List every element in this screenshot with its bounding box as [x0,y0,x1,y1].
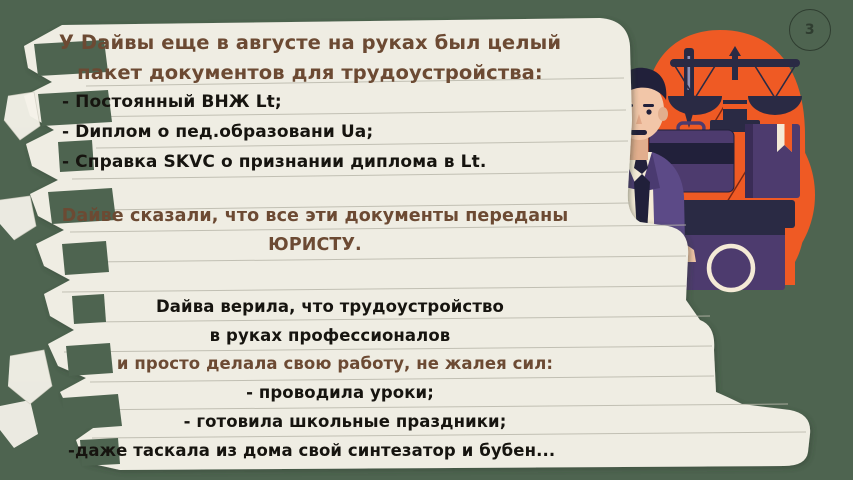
slide-canvas: 3 [0,0,853,480]
heading-line-1: У Dайвы еще в августе на руках был целый [0,33,620,53]
document-item-2: - Dиплом о пед.образовани Ua; [62,124,373,141]
belief-line-3: и просто делала свою работу, не жалея си… [0,356,670,373]
work-item-1: - проводила уроки; [0,385,680,402]
statement-line-1: Dайве сказали, что все эти документы пер… [0,208,630,226]
statement-line-2: ЮРИСТУ. [0,237,630,255]
work-item-2: - готовила школьные праздники; [0,414,690,431]
work-item-3: -даже таскала из дома свой синтезатор и … [68,443,555,460]
heading-line-2: пакет документов для трудоустройства: [0,63,620,83]
belief-line-1: Dайва верила, что трудоустройство [0,299,660,316]
document-item-3: - Справка SKVC о признании диплома в Lt. [62,154,486,171]
belief-line-2: в руках профессионалов [0,328,660,345]
document-item-1: - Постоянный ВНЖ Lt; [62,94,282,111]
slide-text-content: У Dайвы еще в августе на руках был целый… [0,0,640,480]
